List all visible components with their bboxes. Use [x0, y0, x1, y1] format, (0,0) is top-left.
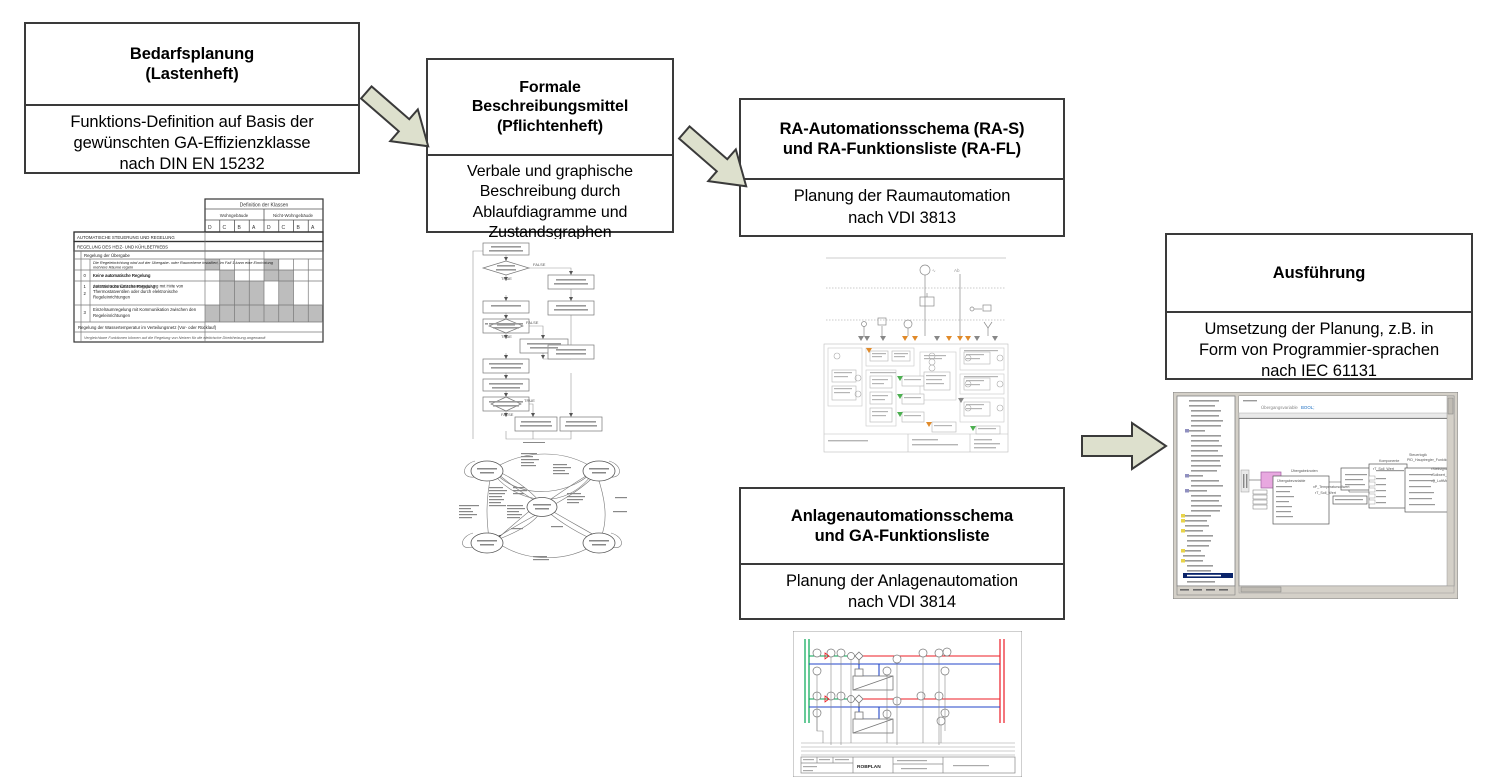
diagram-canvas: Bedarfsplanung (Lastenheft) Funktions-De… — [0, 0, 1495, 783]
svg-text:FALSE: FALSE — [533, 262, 546, 267]
svg-text:Komponente: Komponente — [1379, 459, 1399, 463]
svg-text:∿: ∿ — [932, 268, 936, 273]
box-body: Umsetzung der Planung, z.B. in Form von … — [1167, 313, 1471, 388]
svg-text:Regeleinrichtungen: Regeleinrichtungen — [93, 295, 131, 300]
svg-text:Nicht-Wohngebäude: Nicht-Wohngebäude — [273, 213, 314, 218]
box-title: Anlagenautomationsschema und GA-Funktion… — [741, 489, 1063, 565]
svg-text:Regelung der Übergabe: Regelung der Übergabe — [84, 253, 130, 258]
box-body: Planung der Anlagenautomation nach VDI 3… — [741, 565, 1063, 619]
svg-text:FALSE: FALSE — [501, 412, 514, 417]
svg-text:rStellsignal: rStellsignal — [1431, 467, 1449, 471]
svg-text:C: C — [223, 225, 227, 231]
svg-text:Übergabevariable: Übergabevariable — [1277, 479, 1305, 483]
thumbnail-anlagenautomationsschema: ROBPLAN — [793, 631, 1022, 777]
process-box-anlagenautomationsschema[interactable]: Anlagenautomationsschema und GA-Funktion… — [739, 487, 1065, 620]
arrow-right-down-icon — [350, 82, 446, 158]
svg-text:TRUE: TRUE — [501, 334, 512, 339]
svg-text:Definition der Klassen: Definition der Klassen — [240, 203, 289, 209]
svg-text:FALSE: FALSE — [526, 320, 539, 325]
svg-text:D: D — [208, 225, 212, 231]
svg-text:AUTOMATISCHE STEUERUNG UND REG: AUTOMATISCHE STEUERUNG UND REGELUNG — [77, 235, 175, 240]
thumbnail-ablaufdiagramm: FALSE TRUE FALSE TRUE TRUE FALSE — [463, 239, 615, 447]
svg-text:TRUE: TRUE — [501, 276, 512, 281]
box-title: RA-Automationsschema (RA-S) und RA-Funkt… — [741, 100, 1063, 180]
svg-text:C: C — [282, 225, 286, 231]
box-title: Bedarfsplanung (Lastenheft) — [26, 24, 358, 106]
box-title: Ausführung — [1167, 235, 1471, 313]
svg-text:Einzelraumregelung mit Kommuni: Einzelraumregelung mit Kommunikation zwi… — [93, 307, 197, 312]
svg-text:Regeleinrichtungen: Regeleinrichtungen — [93, 313, 131, 318]
svg-text:PID_Hauptregler_Funktionen: PID_Hauptregler_Funktionen — [1407, 458, 1454, 462]
process-box-ausfuehrung[interactable]: Ausführung Umsetzung der Planung, z.B. i… — [1165, 233, 1473, 380]
svg-text:Übergangsvariable: Übergangsvariable — [1261, 405, 1298, 410]
box-body: Verbale und graphische Beschreibung durc… — [428, 156, 672, 250]
svg-text:Keine automatische Regelung: Keine automatische Regelung — [93, 273, 151, 278]
thumbnail-zustandsgraph — [455, 443, 630, 574]
svg-text:Thermostatventilen oder durch: Thermostatventilen oder durch elektronis… — [93, 289, 178, 294]
svg-text:Vergleichbare Funktionen könne: Vergleichbare Funktionen können auf die … — [84, 336, 266, 340]
arrow-right-icon — [1078, 418, 1170, 474]
svg-text:Steuerlogik: Steuerlogik — [1409, 453, 1427, 457]
svg-text:xP_Temperatursollwert: xP_Temperatursollwert — [1313, 485, 1350, 489]
box-body: Planung der Raumautomation nach VDI 3813 — [741, 180, 1063, 235]
process-box-formale-beschreibungsmittel[interactable]: Formale Beschreibungsmittel (Pflichtenhe… — [426, 58, 674, 233]
process-box-bedarfsplanung[interactable]: Bedarfsplanung (Lastenheft) Funktions-De… — [24, 22, 360, 174]
svg-text:BOOL;: BOOL; — [1301, 405, 1314, 410]
svg-text:mehrere Räume regeln: mehrere Räume regeln — [93, 265, 133, 270]
svg-text:Regelung der Wassertemperatur: Regelung der Wassertemperatur im Verteil… — [78, 325, 217, 330]
box-title: Formale Beschreibungsmittel (Pflichtenhe… — [428, 60, 672, 156]
svg-text:Übergabeknoten: Übergabeknoten — [1291, 469, 1318, 473]
svg-text:Ab: Ab — [954, 268, 960, 273]
svg-text:REGELUNG DES HEIZ- UND KÜHLBET: REGELUNG DES HEIZ- UND KÜHLBETRIEBS — [77, 244, 168, 249]
titleblock-label: ROBPLAN — [857, 764, 881, 770]
thumbnail-iec61131-ide: Übergangsvariable BOOL; — [1173, 392, 1458, 599]
process-box-ra-automationsschema[interactable]: RA-Automationsschema (RA-S) und RA-Funkt… — [739, 98, 1065, 237]
box-body: Funktions-Definition auf Basis der gewün… — [26, 106, 358, 181]
svg-text:Wohngebäude: Wohngebäude — [220, 213, 249, 218]
svg-text:D: D — [267, 225, 271, 231]
svg-text:TRUE: TRUE — [524, 398, 535, 403]
thumbnail-ra-automationsschema: ∿ Ab — [820, 252, 1012, 457]
svg-text:rT_Soll_Wert: rT_Soll_Wert — [1315, 491, 1336, 495]
thumbnail-din-en-15232-table: Definition der Klassen Wohngebäude Nicht… — [72, 197, 327, 344]
arrow-right-down-icon — [668, 122, 764, 198]
